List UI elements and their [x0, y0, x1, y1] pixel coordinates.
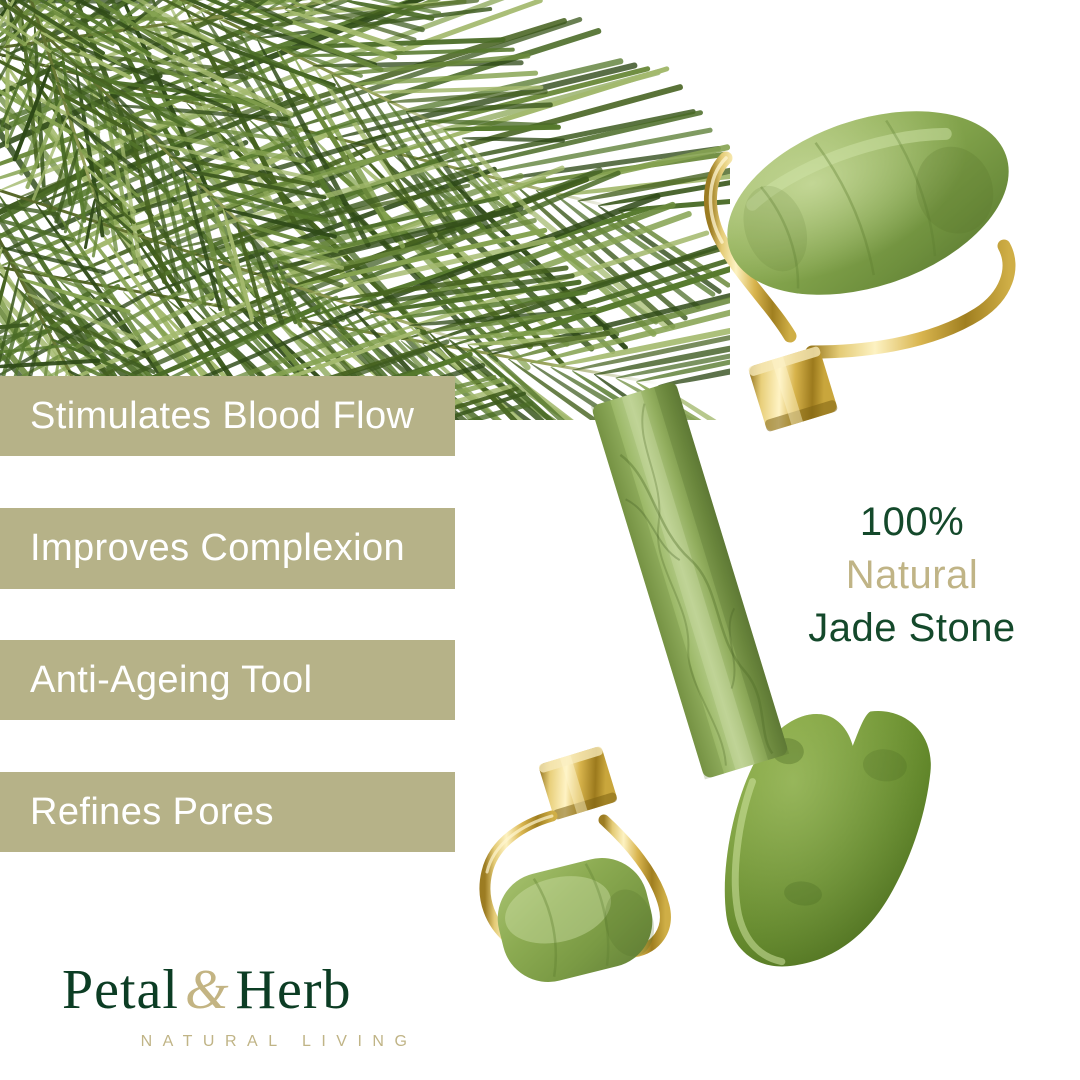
brand-logo: Petal&Herb NATURAL LIVING: [62, 962, 482, 1051]
benefit-bar-3: Refines Pores: [0, 772, 455, 852]
claim-material: Jade Stone: [752, 602, 1072, 655]
roller-top-ferrule: [748, 346, 839, 433]
brand-ampersand: &: [179, 959, 236, 1021]
roller-small-jade-head: [488, 848, 662, 992]
brand-name: Petal&Herb: [62, 962, 482, 1018]
benefit-bar-1: Improves Complexion: [0, 508, 455, 589]
brand-tagline: NATURAL LIVING: [62, 1033, 482, 1051]
benefit-label: Stimulates Blood Flow: [0, 395, 414, 438]
benefit-bar-2: Anti-Ageing Tool: [0, 640, 455, 720]
brand-name-first: Petal: [62, 959, 179, 1021]
claim-natural: Natural: [752, 549, 1072, 602]
roller-bottom-ferrule: [538, 746, 618, 821]
benefit-label: Anti-Ageing Tool: [0, 659, 312, 702]
brand-name-second: Herb: [236, 959, 352, 1021]
benefit-bar-0: Stimulates Blood Flow: [0, 376, 455, 456]
benefit-label: Improves Complexion: [0, 527, 405, 570]
claim-percent: 100%: [752, 496, 1072, 549]
benefit-label: Refines Pores: [0, 791, 274, 834]
material-claim: 100% Natural Jade Stone: [752, 496, 1072, 654]
product-marketing-image: Stimulates Blood Flow Improves Complexio…: [0, 0, 1080, 1080]
